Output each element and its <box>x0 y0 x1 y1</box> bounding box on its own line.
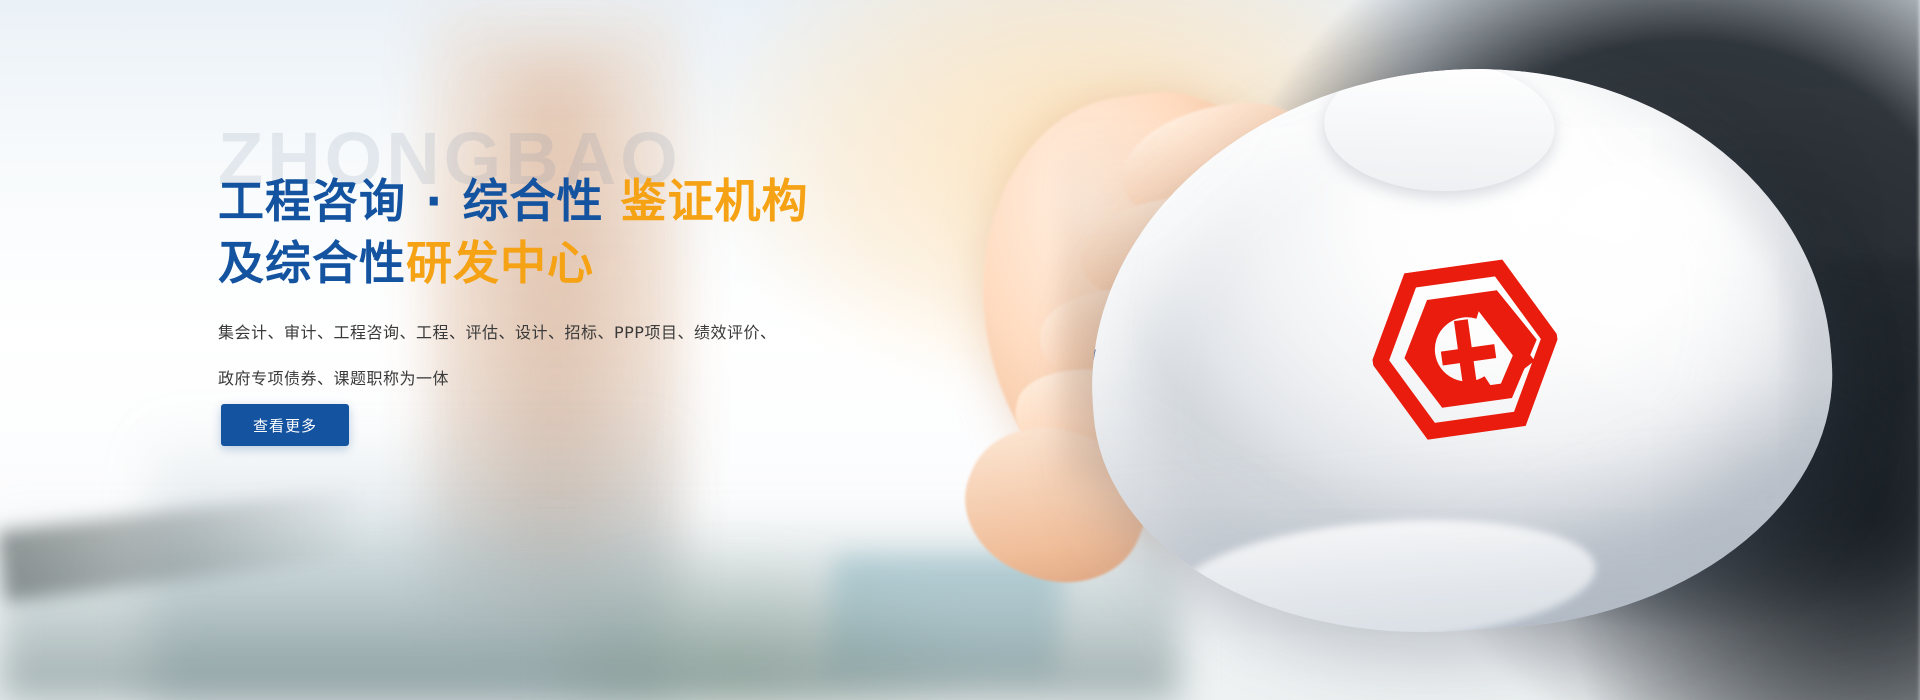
headline-line1-part3: 鉴证机构 <box>621 174 809 228</box>
description-line-2: 政府专项债券、课题职称为一体 <box>218 356 838 402</box>
hero-description: 集会计、审计、工程咨询、工程、评估、设计、招标、PPP项目、绩效评价、 政府专项… <box>218 310 838 402</box>
view-more-button[interactable]: 查看更多 <box>221 404 349 446</box>
headline-line2-part1: 及综合性 <box>218 236 406 290</box>
description-line-1: 集会计、审计、工程咨询、工程、评估、设计、招标、PPP项目、绩效评价、 <box>218 310 838 356</box>
headline-line1-part2: 综合性 <box>463 174 604 228</box>
headline-line-2: 及综合性研发中心 <box>218 232 809 294</box>
headline-line1-part1: 工程咨询 <box>218 174 406 228</box>
headline-separator: · <box>423 174 445 228</box>
hero-content: ZHONGBAO 工程咨询 · 综合性 鉴证机构 及综合性研发中心 集会计、审计… <box>218 0 1038 700</box>
hero-headline: 工程咨询 · 综合性 鉴证机构 及综合性研发中心 <box>218 170 809 294</box>
headline-line2-part2: 研发中心 <box>406 236 594 290</box>
helmet-brand-text: 中宝工程管理 <box>1094 103 1588 634</box>
hero-banner: 中宝工程管理 ZHONGBAO 工程咨询 · 综合性 鉴证机构 及综合性研发中心… <box>0 0 1920 700</box>
headline-line-1: 工程咨询 · 综合性 鉴证机构 <box>218 170 809 232</box>
